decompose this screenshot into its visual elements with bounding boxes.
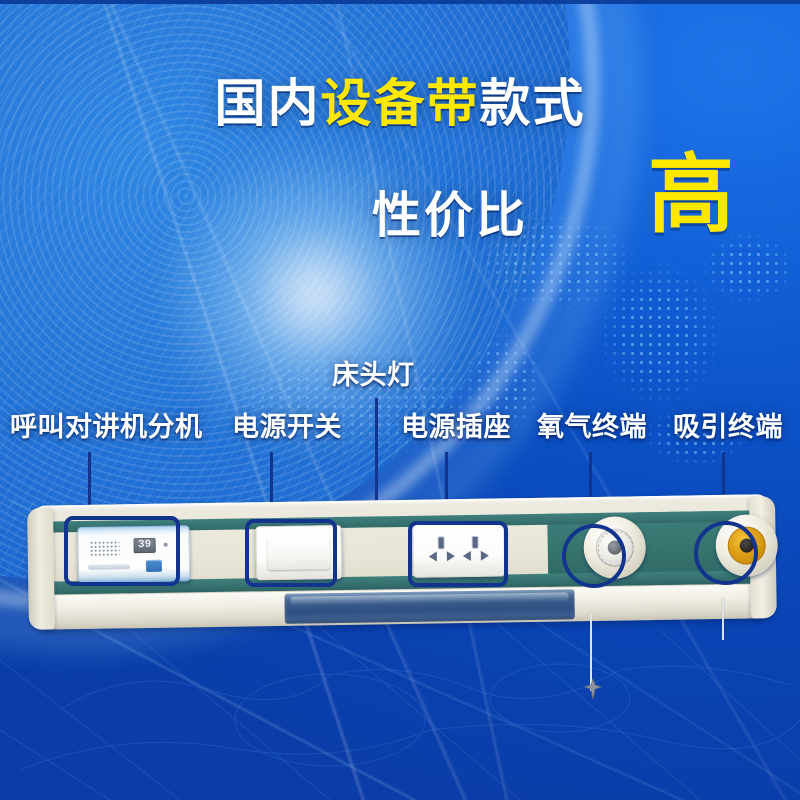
- highlight-box-power-socket: [408, 521, 508, 587]
- callout-label-power-socket: 电源插座: [401, 414, 511, 441]
- highlight-box-intercom: [64, 516, 180, 586]
- headline-line2-text: 性价比: [372, 176, 528, 247]
- promo-image-canvas: 国内设备带款式 性价比 高 呼叫对讲机分机 电源开关 床头灯 电源插座 氧气终端…: [0, 0, 800, 800]
- cord-hook-icon: [584, 678, 602, 700]
- top-edge-bar: [0, 0, 800, 4]
- callout-label-bed-lamp: 床头灯: [332, 362, 415, 389]
- halftone-world-map-left: [150, 330, 480, 480]
- highlight-box-power-switch: [245, 519, 337, 587]
- headline-line-1: 国内设备带款式: [0, 78, 800, 129]
- callout-label-suction: 吸引终端: [673, 414, 783, 441]
- callout-label-intercom: 呼叫对讲机分机: [10, 414, 203, 441]
- headline-line1-highlight: 设备带: [320, 75, 479, 132]
- headline-line2-accent: 高: [648, 152, 736, 238]
- callout-label-oxygen: 氧气终端: [537, 414, 647, 441]
- unit-end-cap-left: [27, 507, 55, 629]
- headline-line1-part3: 款式: [480, 75, 586, 132]
- callout-label-power-switch: 电源开关: [232, 414, 342, 441]
- oxygen-hanging-cord: [722, 598, 724, 640]
- highlight-circle-suction: [694, 521, 758, 585]
- headline-block: 国内设备带款式 性价比 高: [0, 78, 800, 129]
- highlight-circle-oxygen: [562, 524, 626, 588]
- headline-line1-part1: 国内: [214, 75, 320, 132]
